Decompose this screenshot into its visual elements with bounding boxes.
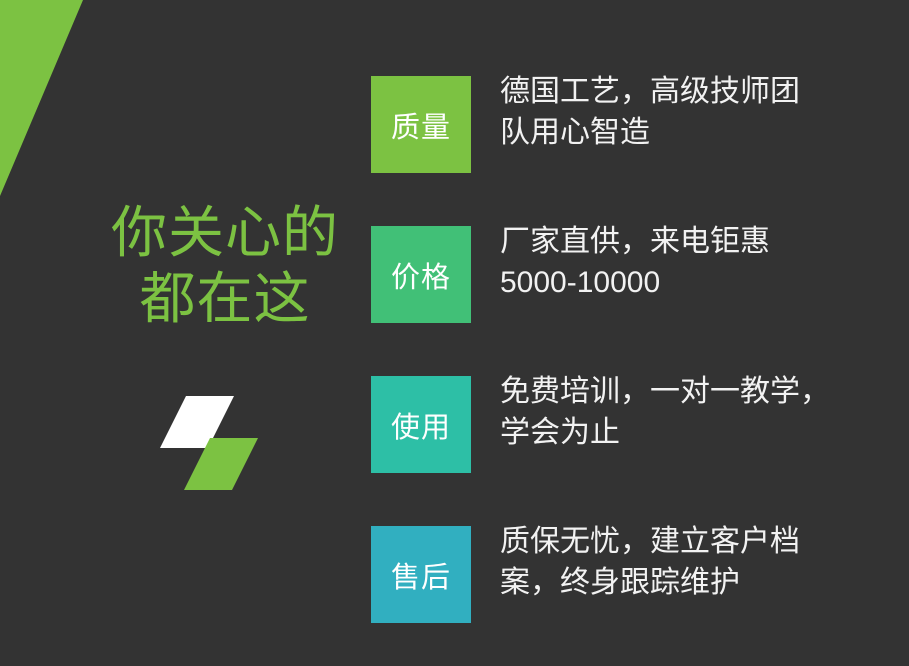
feature-description-quality: 德国工艺，高级技师团 队用心智造	[500, 72, 885, 154]
feature-tag-usage: 使用	[371, 376, 471, 473]
left-column: 你关心的 都在这	[60, 200, 390, 520]
feature-tag-after-sales: 售后	[371, 526, 471, 623]
green-corner-wedge-icon	[0, 0, 90, 200]
feature-row-quality: 质量 德国工艺，高级技师团 队用心智造	[371, 76, 891, 226]
feature-description-after-sales: 质保无忧，建立客户档 案，终身跟踪维护	[500, 522, 885, 604]
wedge-shape	[0, 0, 83, 196]
feature-list: 质量 德国工艺，高级技师团 队用心智造 价格 厂家直供，来电钜惠 5000-10…	[371, 76, 891, 666]
feature-row-usage: 使用 免费培训，一对一教学， 学会为止	[371, 376, 891, 526]
feature-description-price: 厂家直供，来电钜惠 5000-10000	[500, 222, 885, 304]
feature-row-after-sales: 售后 质保无忧，建立客户档 案，终身跟踪维护	[371, 526, 891, 666]
parallelogram-logo-icon	[160, 390, 280, 490]
page-title: 你关心的 都在这	[60, 200, 390, 332]
feature-tag-price: 价格	[371, 226, 471, 323]
feature-description-usage: 免费培训，一对一教学， 学会为止	[500, 372, 885, 454]
feature-tag-quality: 质量	[371, 76, 471, 173]
slide-canvas: 你关心的 都在这 质量 德国工艺，高级技师团 队用心智造 价格 厂家直供，来电钜…	[0, 0, 909, 666]
feature-row-price: 价格 厂家直供，来电钜惠 5000-10000	[371, 226, 891, 376]
